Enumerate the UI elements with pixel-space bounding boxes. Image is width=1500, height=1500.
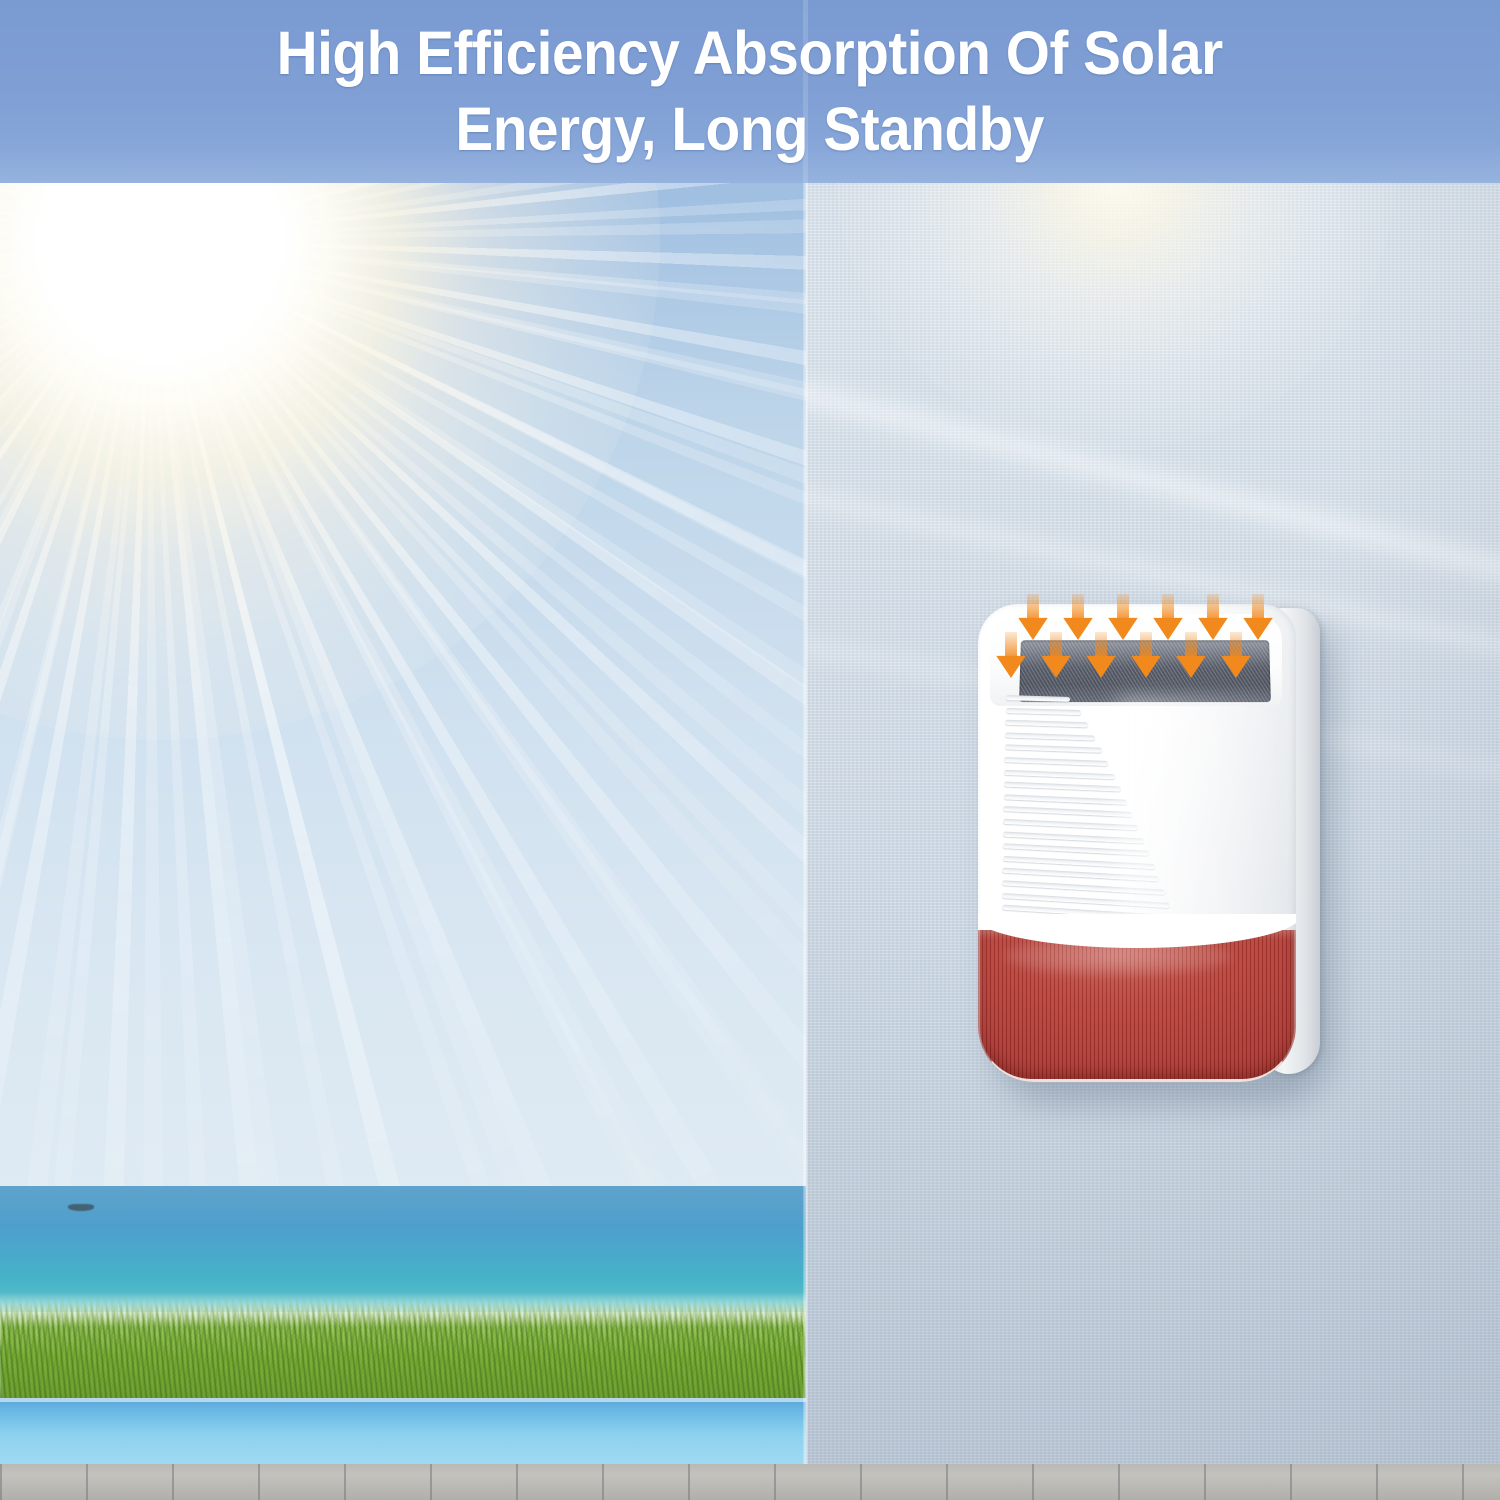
dune-grass [0, 1302, 806, 1400]
ocean-mid-band [0, 1228, 806, 1280]
grille-slat [1004, 794, 1127, 804]
dome-lip [978, 930, 1296, 1082]
headline-banner: High Efficiency Absorption Of Solar Ener… [0, 0, 1500, 183]
boat-icon [68, 1204, 94, 1211]
grille-slat [1003, 806, 1132, 817]
left-scene-panel [0, 0, 806, 1500]
grille-slat [1005, 745, 1103, 754]
pool-edge [0, 1398, 806, 1402]
grille-slat [1004, 757, 1108, 766]
solar-absorption-arrows [978, 598, 1323, 738]
grille-slat [1004, 782, 1121, 792]
grille-slat [1004, 769, 1115, 778]
seascape [0, 1186, 806, 1500]
stone-deck [0, 1464, 1500, 1500]
panel-divider [803, 0, 808, 1500]
product-feature-image: High Efficiency Absorption Of Solar Ener… [0, 0, 1500, 1500]
ocean-far-band [0, 1186, 806, 1228]
page-title: High Efficiency Absorption Of Solar Ener… [240, 16, 1261, 167]
solar-siren-device [978, 598, 1323, 1093]
